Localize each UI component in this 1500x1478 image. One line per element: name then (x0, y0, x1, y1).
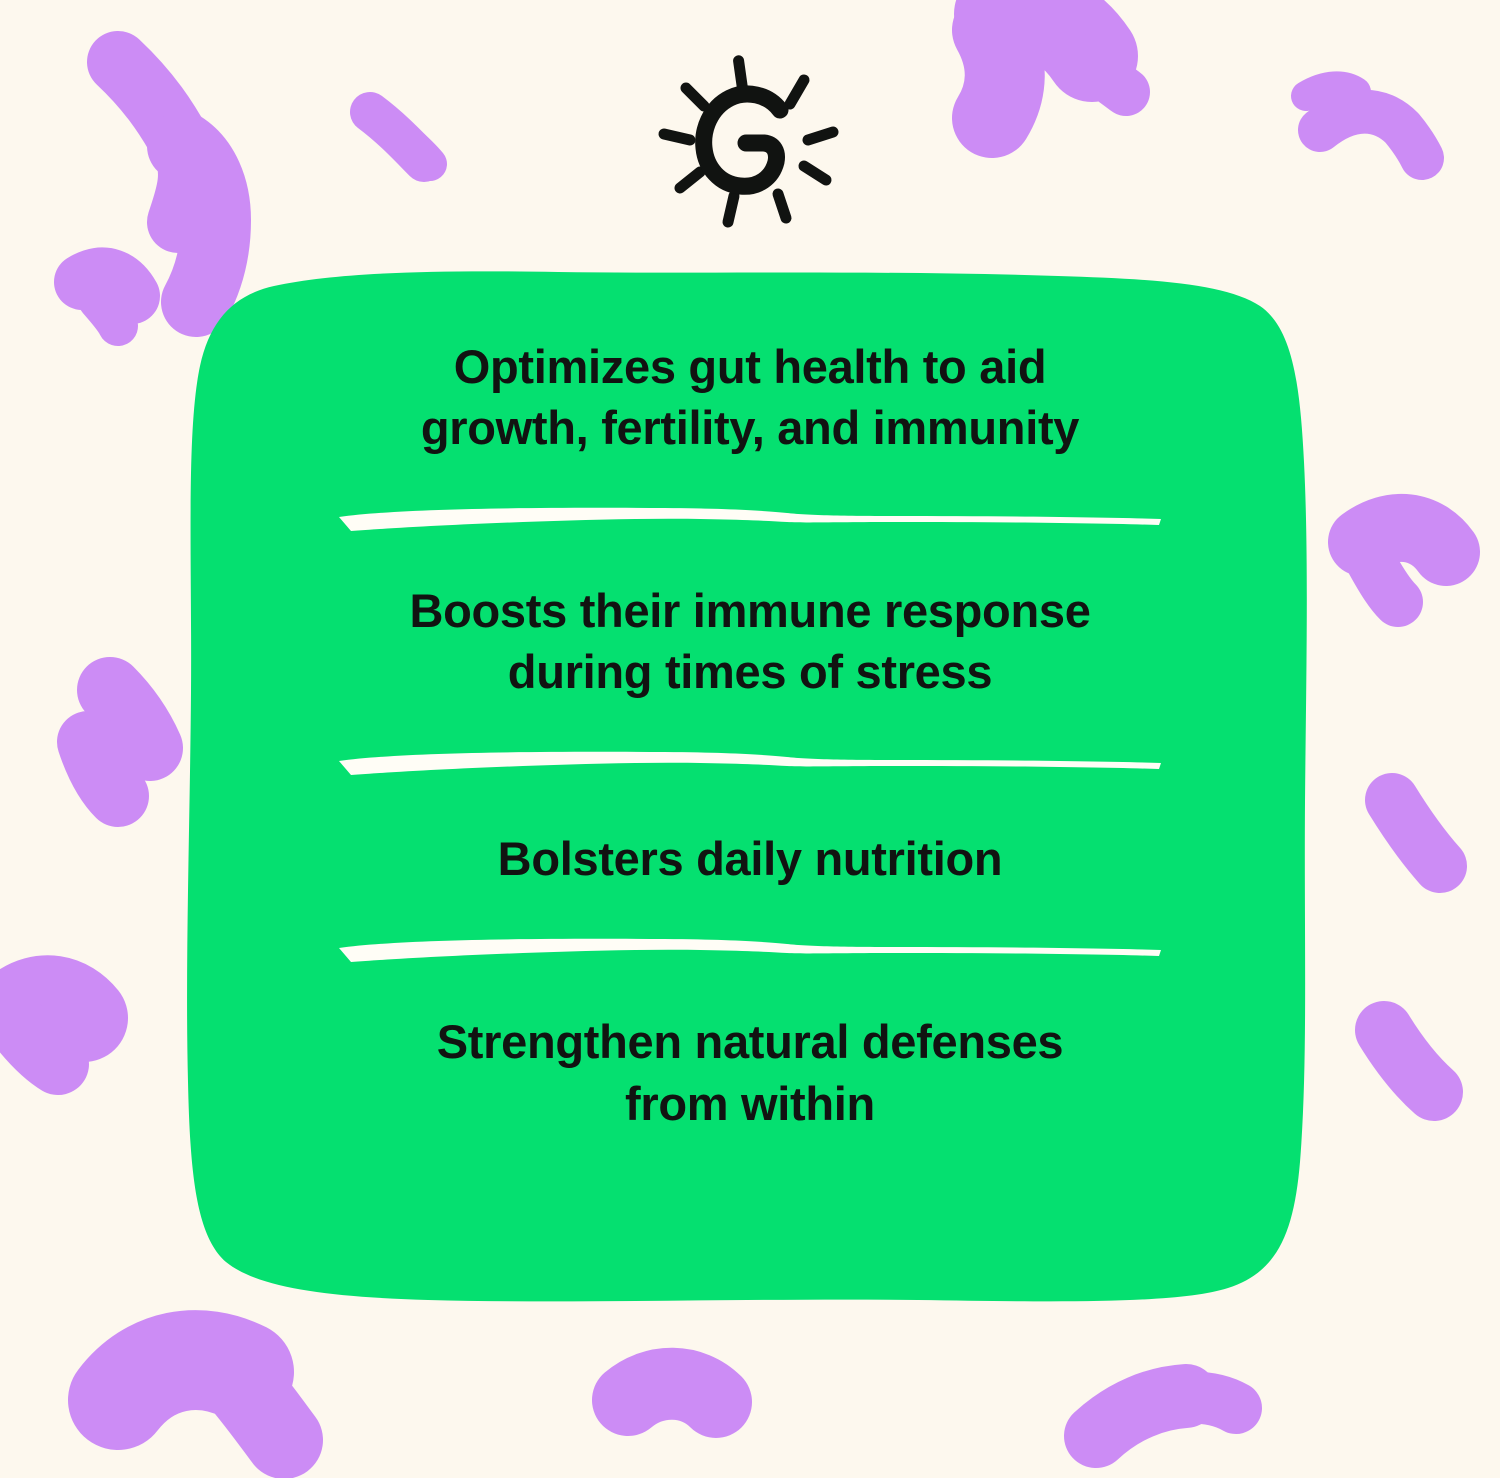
divider-1 (335, 500, 1165, 536)
brand-logo (0, 52, 1500, 232)
ray-nw (686, 88, 704, 106)
blob-bottom-center (628, 1384, 716, 1402)
benefit-item-3: Bolsters daily nutrition (218, 828, 1282, 889)
ray-ne (790, 80, 804, 104)
ray-w (664, 134, 690, 140)
benefit-item-4: Strengthen natural defenses from within (218, 1011, 1282, 1133)
benefit-item-2: Boosts their immune response during time… (218, 580, 1282, 702)
ray-s (728, 196, 734, 222)
ray-se (778, 194, 786, 218)
ray-sw (680, 172, 700, 188)
benefits-card: Optimizes gut health to aid growth, fert… (178, 262, 1322, 1312)
ray-e-lower (804, 166, 826, 180)
blob-right-middle (1362, 528, 1446, 602)
blob-right-lower (1392, 800, 1440, 866)
sun-g-logo-icon (650, 54, 850, 230)
poster-canvas: Optimizes gut health to aid growth, fert… (0, 0, 1500, 1478)
logo-letter-g (704, 94, 780, 186)
blob-bottom-right (1096, 1396, 1236, 1436)
benefit-item-1: Optimizes gut health to aid growth, fert… (218, 336, 1282, 458)
blob-left-upper (82, 275, 132, 326)
blob-left-middle (88, 690, 150, 796)
blob-left-lower (18, 999, 84, 1064)
benefits-list: Optimizes gut health to aid growth, fert… (178, 262, 1322, 1312)
blob-bottom-left (118, 1360, 284, 1440)
divider-3 (335, 931, 1165, 967)
divider-2 (335, 744, 1165, 780)
ray-e-upper (808, 132, 833, 140)
blob-right-bottom (1384, 1030, 1434, 1092)
ray-n (739, 61, 743, 89)
